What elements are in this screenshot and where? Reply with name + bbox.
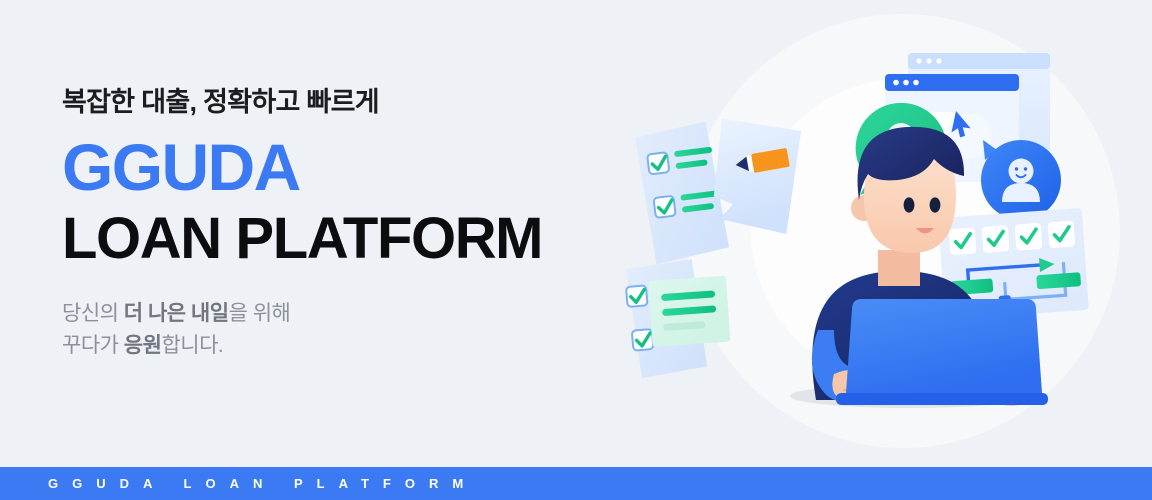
hero-eyebrow: 복잡한 대출, 정확하고 빠르게 xyxy=(62,86,622,120)
brand-name: GGUDA xyxy=(62,134,622,200)
hero-tagline: 당신의 더 나은 내일을 위해 꾸다가 응원합니다. xyxy=(62,298,622,363)
product-name: LOAN PLATFORM xyxy=(62,210,622,268)
tagline-1-post: 을 위해 xyxy=(229,302,291,325)
hero-illustration xyxy=(620,0,1152,467)
note-card-green xyxy=(648,276,730,347)
bottom-marquee-bar: GGUDA LOAN PLATFORM xyxy=(0,467,1152,500)
tagline-line-1: 당신의 더 나은 내일을 위해 xyxy=(62,298,622,331)
laptop-lid xyxy=(846,299,1042,393)
tagline-line-2: 꾸다가 응원합니다. xyxy=(62,330,622,363)
hero-banner: 복잡한 대출, 정확하고 빠르게 GGUDA LOAN PLATFORM 당신의… xyxy=(0,0,1152,500)
pencil-document-card xyxy=(711,119,802,235)
bottom-marquee-text: GGUDA LOAN PLATFORM xyxy=(0,476,477,491)
person-neck xyxy=(878,250,920,286)
hero-copy-block: 복잡한 대출, 정확하고 빠르게 GGUDA LOAN PLATFORM 당신의… xyxy=(62,86,622,363)
tagline-1-pre: 당신의 xyxy=(62,302,124,325)
avatar-bubble-blue xyxy=(981,140,1061,220)
tagline-2-strong: 응원 xyxy=(124,334,162,357)
laptop-base xyxy=(836,393,1048,405)
tagline-1-strong: 더 나은 내일 xyxy=(124,302,229,325)
tagline-2-post: 합니다. xyxy=(161,334,223,357)
tagline-2-pre: 꾸다가 xyxy=(62,334,124,357)
person-eye-left xyxy=(904,197,915,212)
person-eye-right xyxy=(930,197,941,212)
